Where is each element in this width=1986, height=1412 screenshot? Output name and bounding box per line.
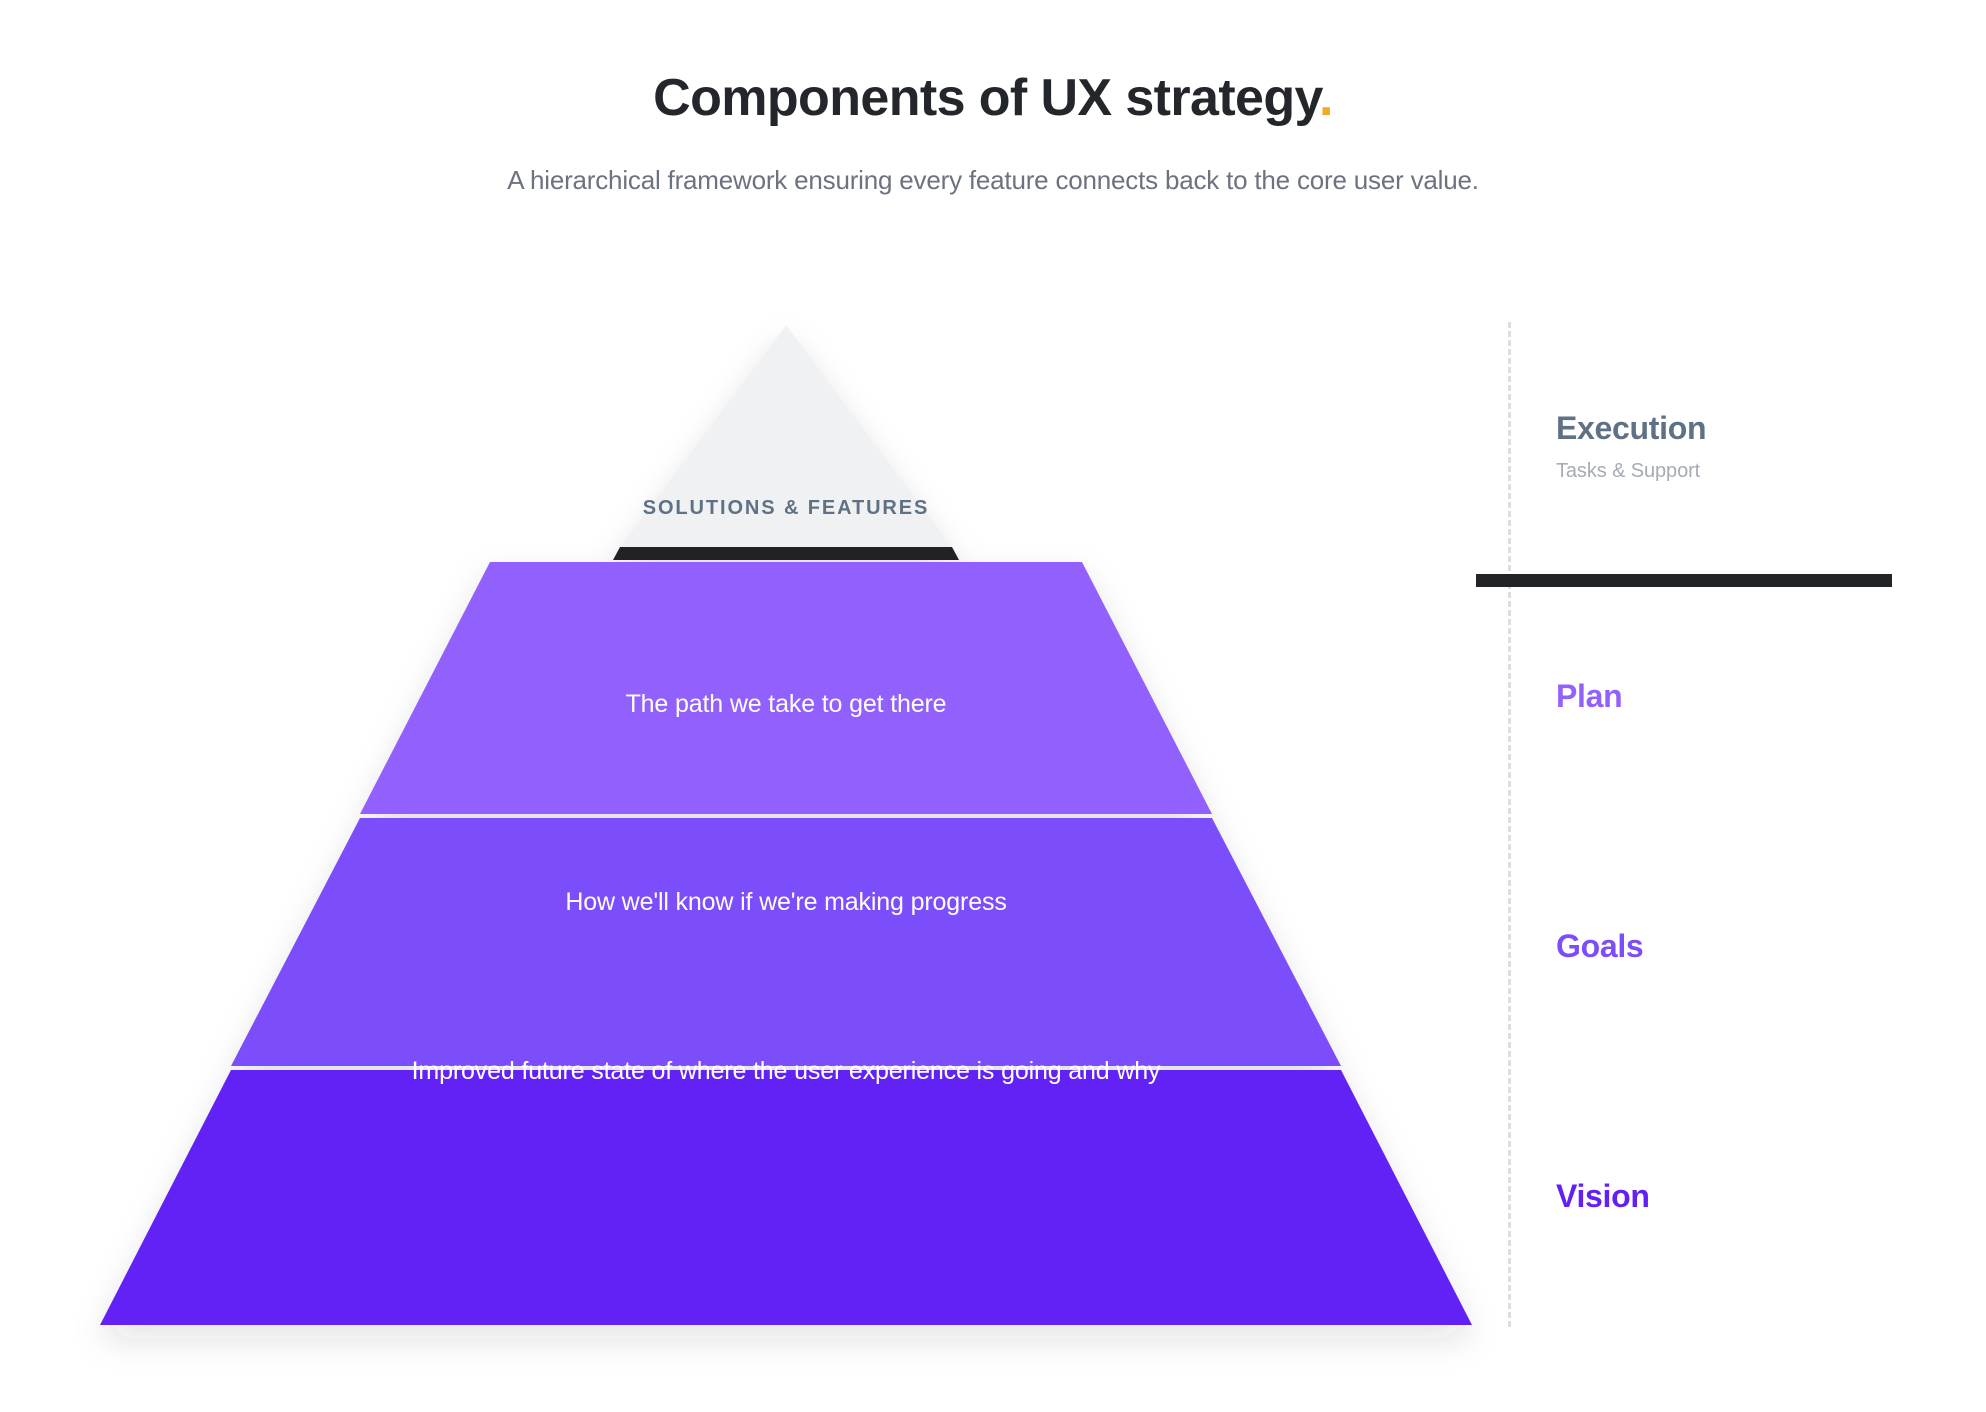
- pyramid-tier-vision[interactable]: [100, 1070, 1472, 1325]
- legend-item-goals-title: Goals: [1556, 928, 1956, 966]
- vertical-dashed-divider: [1508, 322, 1511, 1327]
- legend-item-vision[interactable]: Vision: [1556, 1178, 1956, 1216]
- legend-column: Execution Tasks & Support Plan Goals Vis…: [1556, 300, 1956, 1380]
- pyramid-shape: [60, 300, 1520, 1380]
- legend-item-plan[interactable]: Plan: [1556, 678, 1956, 716]
- legend-item-execution[interactable]: Execution Tasks & Support: [1556, 410, 1956, 483]
- pyramid-tier-execution[interactable]: [620, 325, 952, 547]
- legend-item-execution-title: Execution: [1556, 410, 1956, 448]
- pyramid-tier-plan[interactable]: [360, 562, 1212, 814]
- legend-item-goals[interactable]: Goals: [1556, 928, 1956, 966]
- legend-item-vision-title: Vision: [1556, 1178, 1956, 1216]
- pyramid-diagram: SOLUTIONS & FEATURES The path we take to…: [0, 0, 1986, 1412]
- pyramid-separator-bar: [613, 547, 959, 560]
- legend-item-plan-title: Plan: [1556, 678, 1956, 716]
- pyramid-tier-goals[interactable]: [231, 818, 1341, 1066]
- legend-item-execution-subtitle: Tasks & Support: [1556, 448, 1956, 483]
